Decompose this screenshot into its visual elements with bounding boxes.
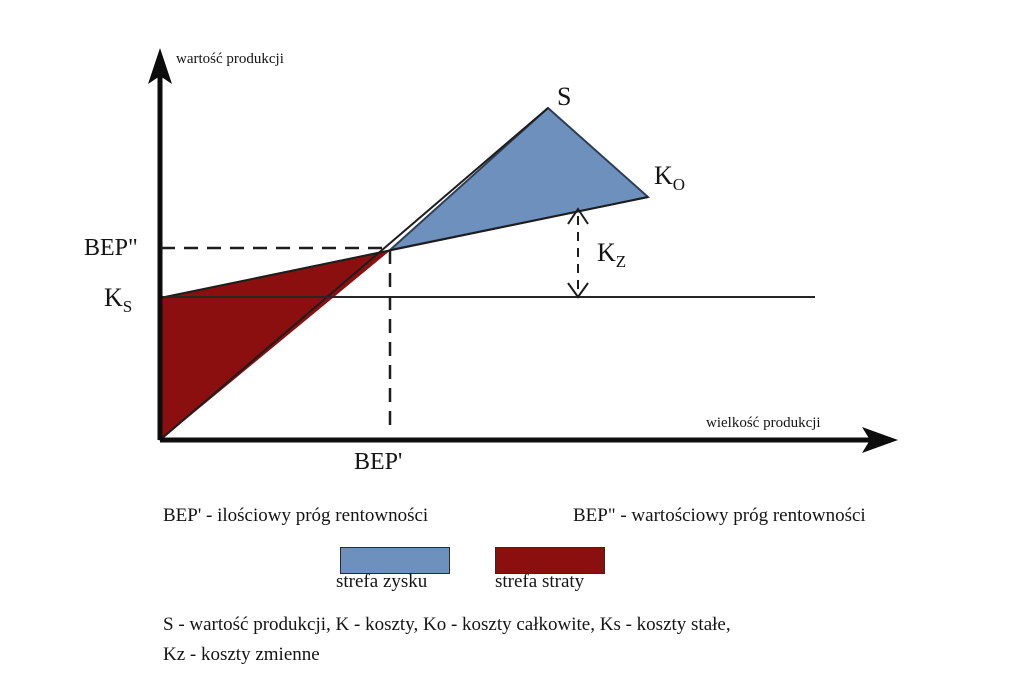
label-ko: KO [654,163,685,193]
label-ko-sub: O [673,175,685,194]
legend-label-profit: strefa zysku [336,572,427,591]
legend-label-loss: strefa straty [495,572,584,591]
y-axis-label: wartość produkcji [176,52,284,67]
break-even-diagram: wartość produkcji wielkość produkcji S K… [0,0,1024,687]
label-ks-main: K [104,283,123,312]
label-kz: KZ [597,240,626,270]
profit-zone-region [390,108,648,250]
label-bep-quantity: BEP' [354,450,402,474]
label-bep-value: BEP" [84,236,138,260]
definition-bep-value: BEP" - wartościowy próg rentowności [573,506,866,525]
label-s: S [557,84,571,110]
definition-bep-quantity: BEP' - ilościowy próg rentowności [163,506,428,525]
label-kz-main: K [597,238,616,267]
label-ks-sub: S [123,297,132,316]
legend-swatch-profit [340,547,450,574]
legend-swatch-loss [495,547,605,574]
revenue-line-s [160,108,548,440]
x-axis-label: wielkość produkcji [706,416,821,431]
symbols-line-1: S - wartość produkcji, K - koszty, Ko - … [163,615,731,634]
label-ks: KS [104,285,132,315]
symbols-line-2: Kz - koszty zmienne [163,645,320,664]
label-ko-main: K [654,161,673,190]
label-kz-sub: Z [616,252,626,271]
